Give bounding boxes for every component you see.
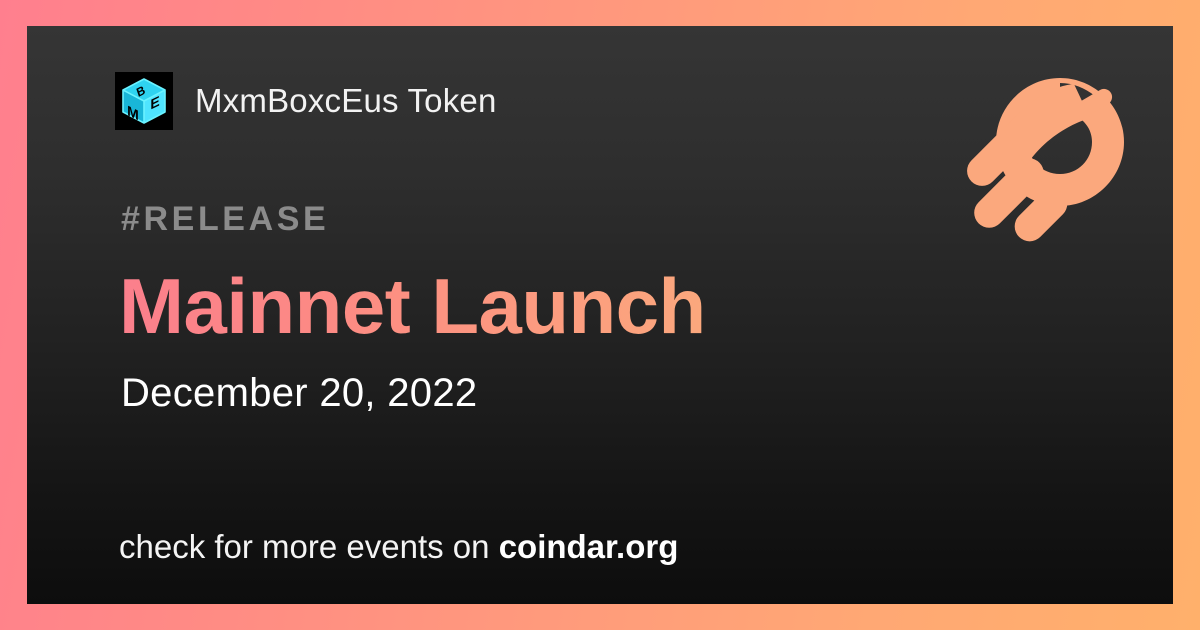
footer-lead-text: check for more events on [119, 528, 499, 565]
event-tag: #RELEASE [121, 200, 329, 239]
gradient-frame: B M E MxmBoxcEus Token [0, 0, 1200, 630]
token-identity: B M E MxmBoxcEus Token [115, 72, 497, 130]
footer-note: check for more events on coindar.org [119, 528, 678, 566]
event-title: Mainnet Launch [119, 266, 706, 348]
token-name: MxmBoxcEus Token [195, 82, 497, 120]
event-card: B M E MxmBoxcEus Token [27, 26, 1173, 604]
coindar-comet-icon [964, 74, 1128, 248]
coindar-link[interactable]: coindar.org [499, 528, 679, 565]
mxmboxceus-cube-logo-icon: B M E [115, 72, 173, 130]
event-date: December 20, 2022 [121, 371, 477, 416]
